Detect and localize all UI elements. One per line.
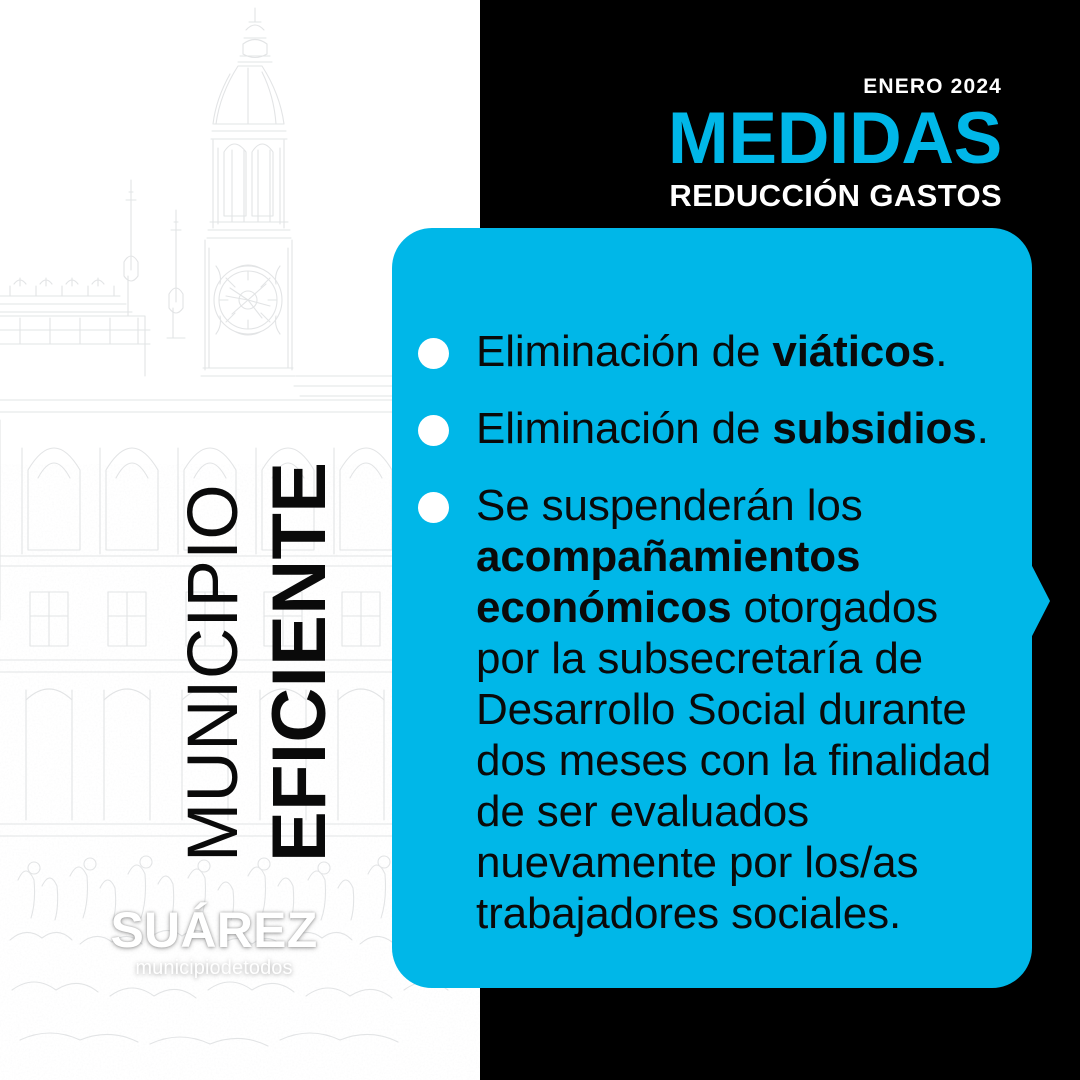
- measure-text-post: .: [935, 327, 947, 376]
- measure-text: Eliminación de viáticos.: [476, 326, 947, 377]
- header: ENERO 2024 MEDIDAS REDUCCIÓN GASTOS: [668, 76, 1002, 211]
- list-item: Se suspenderán los acompañamientos econó…: [418, 480, 1018, 939]
- measure-text-pre: Eliminación de: [476, 404, 772, 453]
- page-title: MEDIDAS: [668, 104, 1002, 174]
- measure-text-pre: Eliminación de: [476, 327, 772, 376]
- measure-text-post: .: [977, 404, 989, 453]
- measure-text: Se suspenderán los acompañamientos econó…: [476, 480, 1001, 939]
- measure-text-pre: Se suspenderán los: [476, 481, 863, 530]
- measure-text-bold: subsidios: [772, 404, 976, 453]
- poster-root: MUNICIPIO EFICIENTE SUÁREZ municipiodeto…: [0, 0, 1080, 1080]
- measure-text: Eliminación de subsidios.: [476, 403, 989, 454]
- bullet-dot-icon: [418, 338, 449, 369]
- page-subtitle: REDUCCIÓN GASTOS: [668, 180, 1002, 211]
- measure-text-post: otorgados por la subsecretaría de Desarr…: [476, 583, 991, 938]
- bullet-dot-icon: [418, 492, 449, 523]
- header-date: ENERO 2024: [668, 76, 1002, 97]
- bullet-dot-icon: [418, 415, 449, 446]
- measure-text-bold: viáticos: [772, 327, 935, 376]
- measures-list: Eliminación de viáticos. Eliminación de …: [418, 326, 1018, 939]
- list-item: Eliminación de subsidios.: [418, 403, 1018, 454]
- list-item: Eliminación de viáticos.: [418, 326, 1018, 377]
- card-pointer-arrow: [1030, 562, 1050, 640]
